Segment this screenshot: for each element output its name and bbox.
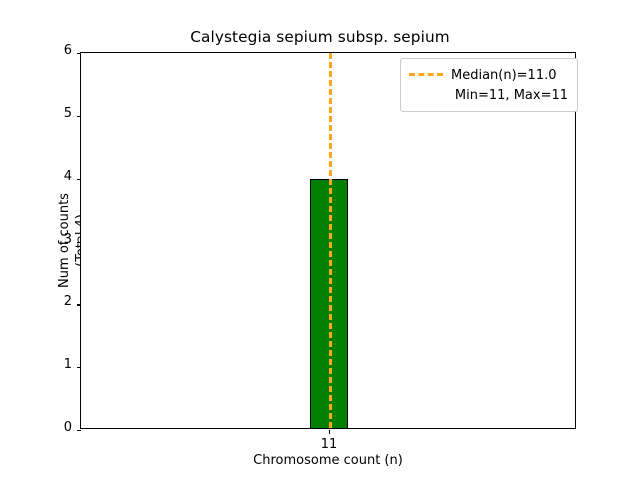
chart-figure: Calystegia sepium subsp. sepium 0123456 …	[0, 0, 640, 480]
y-axis-tick	[77, 430, 81, 431]
y-axis-tick	[77, 53, 81, 54]
y-axis-label-line1: Num of counts	[57, 193, 72, 288]
y-axis-tick	[77, 367, 81, 368]
chart-legend: Median(n)=11.0 Min=11, Max=11	[400, 58, 578, 112]
x-axis-label: Chromosome count (n)	[80, 453, 576, 468]
y-axis-tick	[77, 116, 81, 117]
legend-item-range: Min=11, Max=11	[409, 85, 569, 105]
legend-label-range: Min=11, Max=11	[455, 88, 568, 103]
chart-title: Calystegia sepium subsp. sepium	[0, 28, 640, 46]
legend-item-median: Median(n)=11.0	[409, 65, 569, 85]
x-axis-tick-label: 11	[321, 437, 338, 452]
y-axis-label: Num of counts (Total 4)	[26, 52, 70, 429]
median-line	[329, 53, 332, 428]
y-axis-tick	[77, 304, 81, 305]
y-axis-tick	[77, 179, 81, 180]
y-axis-tick	[77, 242, 81, 243]
dashed-line-icon	[409, 68, 443, 82]
legend-label-median: Median(n)=11.0	[451, 68, 557, 83]
x-axis-tick	[329, 430, 330, 434]
